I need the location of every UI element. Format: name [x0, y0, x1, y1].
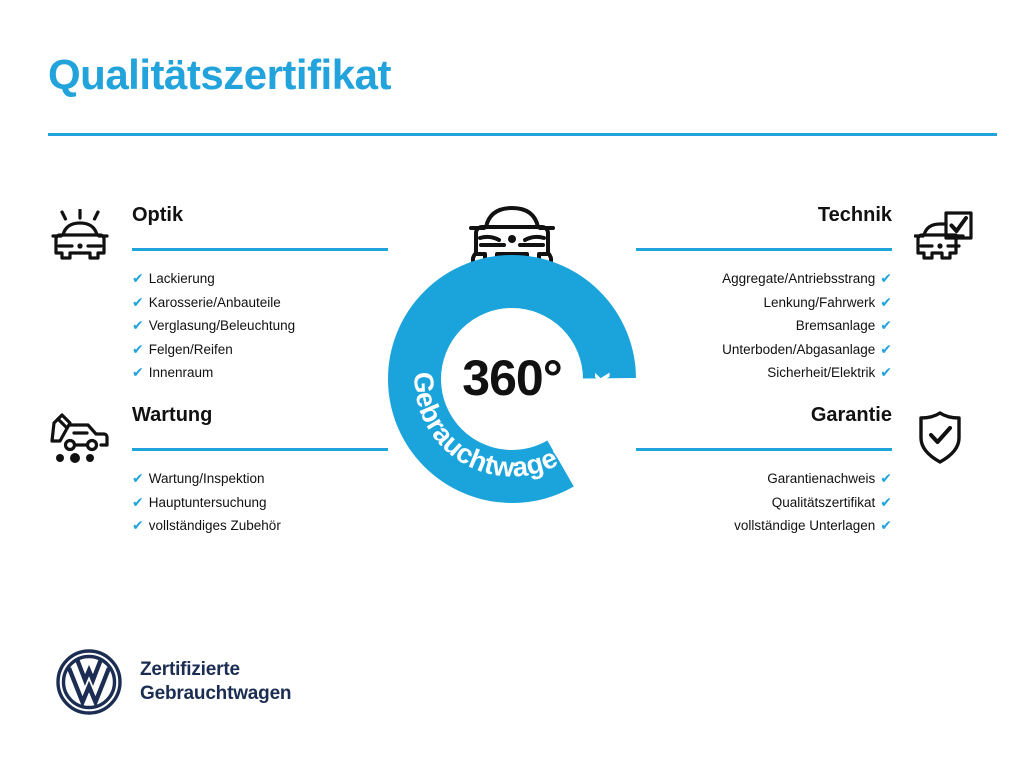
list-item: Bremsanlage✔	[636, 314, 892, 338]
shield-check-icon	[910, 409, 970, 467]
list-item-label: Felgen/Reifen	[149, 342, 233, 357]
list-item: Garantienachweis✔	[636, 467, 892, 491]
list-item-label: Qualitätszertifikat	[772, 495, 876, 510]
section-optik-header: Optik	[48, 205, 388, 267]
list-item: ✔Wartung/Inspektion	[132, 467, 388, 491]
check-icon: ✔	[132, 317, 144, 333]
section-optik-list: ✔Lackierung ✔Karosserie/Anbauteile ✔Verg…	[48, 267, 388, 385]
check-icon: ✔	[880, 364, 892, 380]
list-item: ✔vollständiges Zubehör	[132, 514, 388, 538]
list-item-label: Verglasung/Beleuchtung	[149, 318, 295, 333]
list-item-label: Sicherheit/Elektrik	[767, 365, 875, 380]
check-icon: ✔	[880, 470, 892, 486]
check-icon: ✔	[132, 294, 144, 310]
check-icon: ✔	[880, 341, 892, 357]
section-technik-header: Technik	[636, 205, 976, 267]
check-icon: ✔	[132, 270, 144, 286]
list-item: Qualitätszertifikat✔	[636, 491, 892, 515]
list-item: ✔Innenraum	[132, 361, 388, 385]
section-technik-underline	[636, 248, 892, 251]
vw-lockup-line2: Gebrauchtwagen	[140, 682, 291, 706]
check-icon: ✔	[132, 494, 144, 510]
list-item-label: Lenkung/Fahrwerk	[763, 295, 875, 310]
list-item-label: Aggregate/Antriebsstrang	[722, 271, 875, 286]
list-item: ✔Lackierung	[132, 267, 388, 291]
list-item: Sicherheit/Elektrik✔	[636, 361, 892, 385]
list-item: ✔Karosserie/Anbauteile	[132, 291, 388, 315]
list-item: vollständige Unterlagen✔	[636, 514, 892, 538]
section-optik-title: Optik	[132, 205, 388, 235]
check-icon: ✔	[880, 494, 892, 510]
section-wartung-underline	[132, 448, 388, 451]
car-shine-icon	[50, 209, 110, 267]
section-garantie-header: Garantie	[636, 405, 976, 467]
section-optik-underline	[132, 248, 388, 251]
page-title: Qualitätszertifikat	[48, 52, 391, 98]
vw-logo-icon	[55, 648, 123, 716]
section-technik: Technik Aggregate/Antriebsstrang✔ Lenkun…	[636, 205, 976, 385]
section-wartung-title: Wartung	[132, 405, 388, 435]
list-item-label: Unterboden/Abgasanlage	[722, 342, 875, 357]
list-item-label: Wartung/Inspektion	[149, 471, 265, 486]
section-wartung-list: ✔Wartung/Inspektion ✔Hauptuntersuchung ✔…	[48, 467, 388, 538]
vw-certified-lockup: Zertifizierte Gebrauchtwagen	[55, 648, 291, 716]
section-technik-title: Technik	[636, 205, 892, 235]
list-item: Lenkung/Fahrwerk✔	[636, 291, 892, 315]
check-icon: ✔	[132, 364, 144, 380]
list-item: ✔Verglasung/Beleuchtung	[132, 314, 388, 338]
list-item-label: vollständiges Zubehör	[149, 518, 281, 533]
section-garantie-title: Garantie	[636, 405, 892, 435]
badge-360-gebrauchtwagen-check: Gebrauchtwagen-Check 360°	[386, 253, 638, 485]
section-garantie: Garantie Garantienachweis✔ Qualitätszert…	[636, 405, 976, 538]
check-icon: ✔	[880, 294, 892, 310]
list-item: ✔Felgen/Reifen	[132, 338, 388, 362]
section-wartung: Wartung ✔Wartung/Inspektion ✔Hauptunters…	[48, 405, 388, 538]
check-icon: ✔	[132, 517, 144, 533]
vw-lockup-line1: Zertifizierte	[140, 658, 291, 682]
section-wartung-header: Wartung	[48, 405, 388, 467]
list-item-label: vollständige Unterlagen	[734, 518, 875, 533]
list-item: Unterboden/Abgasanlage✔	[636, 338, 892, 362]
list-item: Aggregate/Antriebsstrang✔	[636, 267, 892, 291]
list-item-label: Karosserie/Anbauteile	[149, 295, 281, 310]
title-divider	[48, 133, 997, 136]
section-technik-list: Aggregate/Antriebsstrang✔ Lenkung/Fahrwe…	[636, 267, 976, 385]
section-garantie-underline	[636, 448, 892, 451]
check-icon: ✔	[132, 341, 144, 357]
list-item: ✔Hauptuntersuchung	[132, 491, 388, 515]
section-optik: Optik ✔Lackierung ✔Karosserie/Anbauteile…	[48, 205, 388, 385]
list-item-label: Garantienachweis	[767, 471, 875, 486]
check-icon: ✔	[880, 517, 892, 533]
badge-center-label: 360°	[386, 349, 638, 407]
service-book-pencil-car-icon	[50, 411, 110, 469]
car-checkbox-icon	[914, 209, 974, 267]
check-icon: ✔	[132, 470, 144, 486]
check-icon: ✔	[880, 270, 892, 286]
list-item-label: Bremsanlage	[796, 318, 876, 333]
vw-lockup-text: Zertifizierte Gebrauchtwagen	[140, 658, 291, 706]
list-item-label: Innenraum	[149, 365, 214, 380]
list-item-label: Hauptuntersuchung	[149, 495, 267, 510]
list-item-label: Lackierung	[149, 271, 215, 286]
section-garantie-list: Garantienachweis✔ Qualitätszertifikat✔ v…	[636, 467, 976, 538]
check-icon: ✔	[880, 317, 892, 333]
